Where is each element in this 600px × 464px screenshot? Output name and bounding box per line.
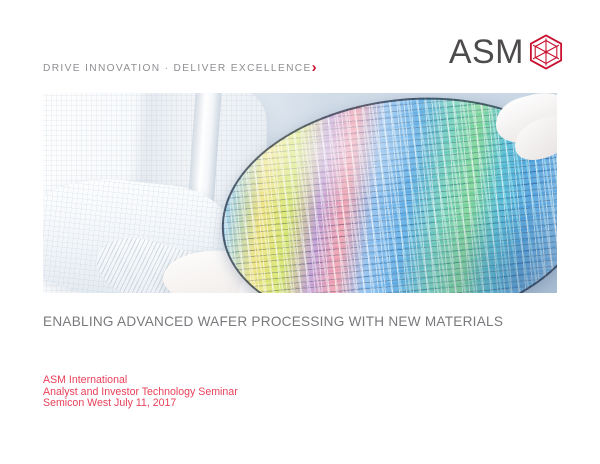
footer-block: ASM International Analyst and Investor T… — [43, 375, 238, 410]
page-title: ENABLING ADVANCED WAFER PROCESSING WITH … — [43, 314, 503, 329]
brand-tagline-text: DRIVE INNOVATION · DELIVER EXCELLENCE — [43, 63, 312, 74]
asm-logo: ASM — [449, 34, 564, 70]
footer-line-date: Semicon West July 11, 2017 — [43, 398, 238, 410]
brand-tagline: DRIVE INNOVATION · DELIVER EXCELLENCE› — [43, 63, 317, 74]
asm-wordmark: ASM — [449, 35, 524, 69]
slide-root: DRIVE INNOVATION · DELIVER EXCELLENCE› A… — [0, 0, 600, 464]
hero-image — [43, 93, 557, 293]
asm-hexagon-icon — [528, 34, 564, 70]
footer-line-company: ASM International — [43, 375, 238, 387]
